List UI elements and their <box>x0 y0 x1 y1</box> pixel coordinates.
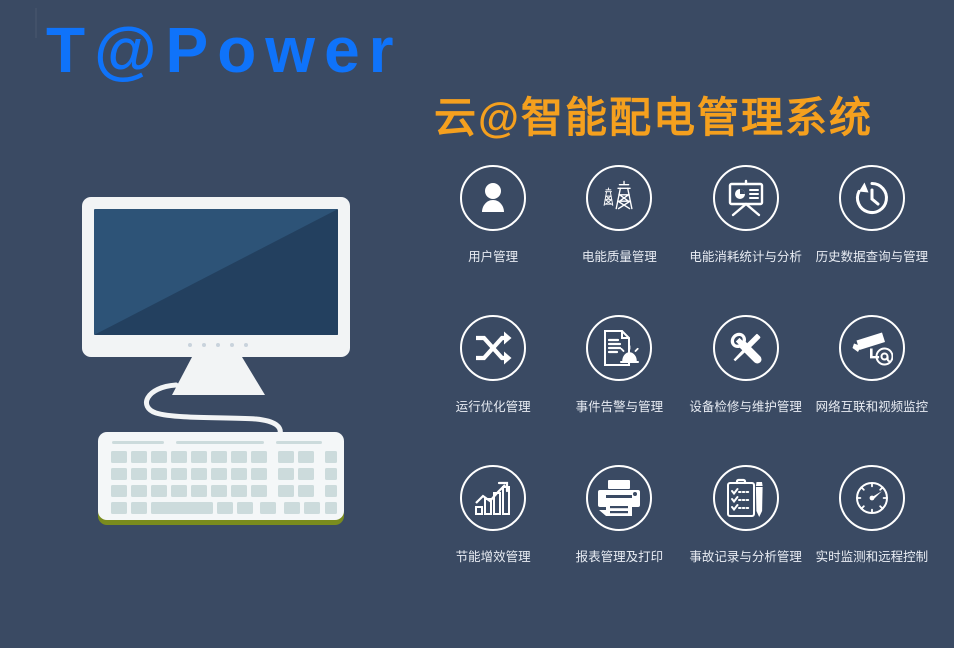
subtitle: 云@智能配电管理系统 <box>434 97 873 139</box>
feature-label: 节能增效管理 <box>456 551 531 564</box>
monitor-screen <box>94 209 338 335</box>
decorative-line <box>35 8 37 38</box>
feature-item-realtime-monitoring[interactable]: 实时监测和远程控制 <box>809 465 935 615</box>
feature-label: 历史数据查询与管理 <box>816 251 929 264</box>
feature-item-network-video[interactable]: 网络互联和视频监控 <box>809 315 935 465</box>
feature-label: 实时监测和远程控制 <box>816 551 929 564</box>
feature-item-consumption-analysis[interactable]: 电能消耗统计与分析 <box>683 165 809 315</box>
feature-label: 事故记录与分析管理 <box>689 551 802 564</box>
feature-label: 电能质量管理 <box>582 251 657 264</box>
shuffle-arrows-icon[interactable] <box>460 315 526 381</box>
feature-item-history-data[interactable]: 历史数据查询与管理 <box>809 165 935 315</box>
wrench-screwdriver-icon[interactable] <box>713 315 779 381</box>
poster-canvas: T@Power 云@智能配电管理系统 <box>0 0 954 648</box>
keyboard <box>96 432 346 525</box>
feature-icon-grid: 用户管理 <box>430 165 935 615</box>
printer-icon[interactable] <box>586 465 652 531</box>
feature-item-power-quality[interactable]: 电能质量管理 <box>556 165 682 315</box>
gauge-meter-icon[interactable] <box>839 465 905 531</box>
cctv-camera-at-icon[interactable] <box>839 315 905 381</box>
feature-label: 报表管理及打印 <box>576 551 664 564</box>
brand-title: T@Power <box>46 18 403 82</box>
feature-item-operation-optimization[interactable]: 运行优化管理 <box>430 315 556 465</box>
user-icon[interactable] <box>460 165 526 231</box>
feature-label: 用户管理 <box>468 251 518 264</box>
presentation-chart-icon[interactable] <box>713 165 779 231</box>
feature-label: 运行优化管理 <box>456 401 531 414</box>
feature-item-event-alarm[interactable]: 事件告警与管理 <box>556 315 682 465</box>
feature-item-energy-saving[interactable]: 节能增效管理 <box>430 465 556 615</box>
growth-bar-chart-icon[interactable] <box>460 465 526 531</box>
power-tower-icon[interactable] <box>586 165 652 231</box>
feature-item-report-printing[interactable]: 报表管理及打印 <box>556 465 682 615</box>
feature-label: 设备检修与维护管理 <box>689 401 802 414</box>
clipboard-checklist-icon[interactable] <box>713 465 779 531</box>
feature-item-incident-records[interactable]: 事故记录与分析管理 <box>683 465 809 615</box>
feature-label: 网络互联和视频监控 <box>816 401 929 414</box>
feature-item-maintenance[interactable]: 设备检修与维护管理 <box>683 315 809 465</box>
monitor-stand <box>172 357 265 395</box>
document-alarm-icon[interactable] <box>586 315 652 381</box>
feature-label: 事件告警与管理 <box>576 401 664 414</box>
feature-label: 电能消耗统计与分析 <box>689 251 802 264</box>
desktop-computer-illustration <box>80 195 400 545</box>
history-clock-icon[interactable] <box>839 165 905 231</box>
feature-item-user-management[interactable]: 用户管理 <box>430 165 556 315</box>
